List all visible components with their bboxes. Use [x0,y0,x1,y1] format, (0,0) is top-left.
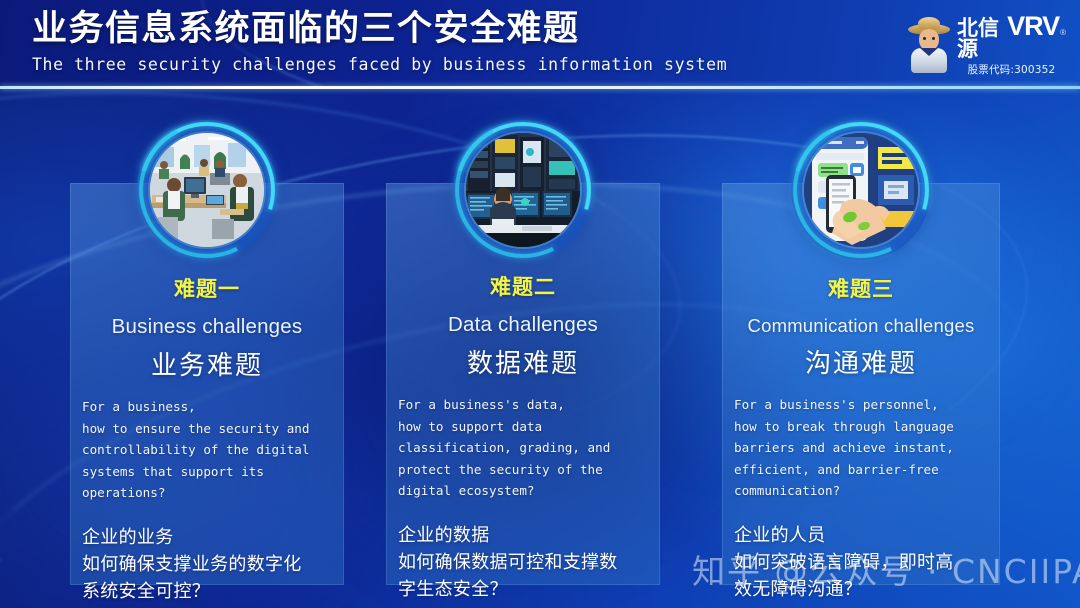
header-divider [0,86,1080,89]
card-2-title-cn: 数据难题 [386,343,660,380]
card-1-title-en: Business challenges [70,315,344,339]
card-1-body-cn: 企业的业务 如何确保支撑业务的数字化 系统安全可控？ [70,524,344,605]
logo-brand-en: VRV [1007,13,1059,40]
card-2-body-en: For a business's data, how to support da… [386,394,660,502]
page-title-en: The three security challenges faced by b… [32,53,727,77]
card-1-body-en: For a business, how to ensure the securi… [70,396,344,504]
card-3-ring-arc-2 [775,104,946,275]
logo-text-block: 北信源 VRV ® 股票代码:300352 [957,13,1066,76]
card-2-title-en: Data challenges [386,313,660,337]
card-1-circle [137,120,277,260]
card-1-number: 难题一 [70,273,344,303]
challenge-card-3[interactable]: 难题三 Communication challenges 沟通难题 For a … [722,183,1000,585]
card-2-ring-arc-2 [437,104,608,275]
card-2-circle [453,120,593,260]
card-2-body-cn: 企业的数据 如何确保数据可控和支撑数 字生态安全？ [386,522,660,603]
card-3-title-cn: 沟通难题 [722,343,1000,380]
card-3-body-cn: 企业的人员 如何突破语言障碍，即时高 效无障碍沟通？ [722,522,1000,603]
title-block: 业务信息系统面临的三个安全难题 The three security chall… [32,8,727,77]
slide-header: 业务信息系统面临的三个安全难题 The three security chall… [0,0,1080,88]
card-3-circle [791,120,931,260]
card-3-body-en: For a business's personnel, how to break… [722,394,1000,502]
mascot-figure-icon [906,15,952,73]
card-1-ring-arc-2 [121,104,292,275]
logo-brand-cn: 北信源 [957,18,1006,60]
card-1-title-cn: 业务难题 [70,345,344,382]
page-title-cn: 业务信息系统面临的三个安全难题 [32,8,727,50]
registered-mark-icon: ® [1060,29,1066,37]
slide-root: 业务信息系统面临的三个安全难题 The three security chall… [0,0,1080,608]
logo-stock-code: 股票代码:300352 [957,65,1066,76]
challenge-card-1[interactable]: 难题一 Business challenges 业务难题 For a busin… [70,183,344,585]
brand-logo[interactable]: 北信源 VRV ® 股票代码:300352 [906,13,1066,75]
challenge-card-2[interactable]: 难题二 Data challenges 数据难题 For a business'… [386,183,660,585]
card-3-title-en: Communication challenges [722,315,1000,337]
card-3-number: 难题三 [722,273,1000,303]
card-2-number: 难题二 [386,271,660,301]
